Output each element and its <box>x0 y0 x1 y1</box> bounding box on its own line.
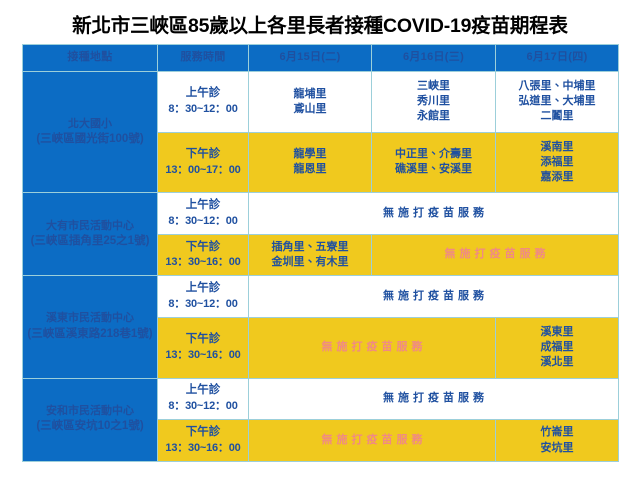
shift-label: 上午診 <box>158 281 248 297</box>
location-address: (三峽區安坑10之1號) <box>23 419 157 435</box>
village-name: 安坑里 <box>496 441 618 456</box>
shift-hours: 13：00~17：00 <box>158 163 248 178</box>
no-service-cell: 無施打疫苗服務 <box>249 420 496 462</box>
shift-hours: 13：30~16：00 <box>158 441 248 456</box>
location-name: 大有市民活動中心 <box>23 219 157 234</box>
table-row: 大有市民活動中心(三峽區插角里25之1號)上午診8：30~12：00無施打疫苗服… <box>23 193 619 235</box>
village-name: 秀川里 <box>372 94 495 109</box>
header-day2: 6月16日(三) <box>372 45 496 72</box>
vaccination-schedule-table: 接種地點 服務時間 6月15日(二) 6月16日(三) 6月17日(四) 北大國… <box>22 44 619 462</box>
village-list: 溪南里添福里嘉添里 <box>496 140 618 186</box>
location-name: 北大國小 <box>23 117 157 132</box>
village-name: 嘉添里 <box>496 170 618 185</box>
shift-time-cell: 上午診8：30~12：00 <box>158 72 249 133</box>
village-list: 龍學里龍恩里 <box>249 147 371 177</box>
village-cell-day1: 龍學里龍恩里 <box>249 132 372 193</box>
village-list: 溪東里成福里溪北里 <box>496 325 618 371</box>
shift-hours: 13：30~16：00 <box>158 255 248 270</box>
no-service-cell: 無施打疫苗服務 <box>249 318 496 379</box>
shift-hours: 8：30~12：00 <box>158 297 248 312</box>
village-name: 竹崙里 <box>496 425 618 440</box>
shift-label: 下午診 <box>158 240 248 256</box>
village-list: 龍埔里鳶山里 <box>249 87 371 117</box>
no-service-cell: 無施打疫苗服務 <box>249 193 619 235</box>
village-name: 溪南里 <box>496 140 618 155</box>
location-cell: 安和市民活動中心(三峽區安坑10之1號) <box>23 378 158 461</box>
schedule-page: 新北市三峽區85歲以上各里長者接種COVID-19疫苗期程表 接種地點 服務時間… <box>0 0 640 480</box>
header-day3: 6月17日(四) <box>496 45 619 72</box>
table-row: 安和市民活動中心(三峽區安坑10之1號)上午診8：30~12：00無施打疫苗服務 <box>23 378 619 420</box>
shift-time-cell: 下午診13：00~17：00 <box>158 132 249 193</box>
location-cell: 溪東市民活動中心(三峽區溪東路218巷1號) <box>23 276 158 378</box>
shift-time-cell: 下午診13：30~16：00 <box>158 420 249 462</box>
village-name: 金圳里、有木里 <box>249 255 371 270</box>
village-cell-day2: 中正里、介壽里礁溪里、安溪里 <box>372 132 496 193</box>
village-name: 永館里 <box>372 109 495 124</box>
no-service-cell: 無施打疫苗服務 <box>249 276 619 318</box>
shift-label: 下午診 <box>158 332 248 348</box>
village-name: 鳶山里 <box>249 102 371 117</box>
village-name: 中正里、介壽里 <box>372 147 495 162</box>
village-name: 添福里 <box>496 155 618 170</box>
table-header: 接種地點 服務時間 6月15日(二) 6月16日(三) 6月17日(四) <box>23 45 619 72</box>
village-name: 龍埔里 <box>249 87 371 102</box>
village-name: 溪北里 <box>496 355 618 370</box>
shift-label: 上午診 <box>158 198 248 214</box>
location-address: (三峽區溪東路218巷1號) <box>23 327 157 343</box>
shift-label: 下午診 <box>158 425 248 441</box>
village-name: 八張里、中埔里 <box>496 79 618 94</box>
shift-label: 上午診 <box>158 383 248 399</box>
village-cell-day1: 插角里、五寮里金圳里、有木里 <box>249 234 372 276</box>
header-row: 接種地點 服務時間 6月15日(二) 6月16日(三) 6月17日(四) <box>23 45 619 72</box>
location-address: (三峽區國光街100號) <box>23 132 157 148</box>
village-list: 八張里、中埔里弘道里、大埔里二鬮里 <box>496 79 618 125</box>
location-cell: 北大國小(三峽區國光街100號) <box>23 72 158 193</box>
village-list: 三峽里秀川里永館里 <box>372 79 495 125</box>
village-cell-day1: 龍埔里鳶山里 <box>249 72 372 133</box>
shift-time-cell: 上午診8：30~12：00 <box>158 193 249 235</box>
header-time: 服務時間 <box>158 45 249 72</box>
page-title: 新北市三峽區85歲以上各里長者接種COVID-19疫苗期程表 <box>0 9 640 38</box>
header-location: 接種地點 <box>23 45 158 72</box>
shift-hours: 8：30~12：00 <box>158 399 248 414</box>
no-service-cell: 無施打疫苗服務 <box>249 378 619 420</box>
location-name: 溪東市民活動中心 <box>23 311 157 326</box>
table-row: 北大國小(三峽區國光街100號)上午診8：30~12：00龍埔里鳶山里三峽里秀川… <box>23 72 619 133</box>
shift-time-cell: 上午診8：30~12：00 <box>158 276 249 318</box>
schedule-table-wrap: 接種地點 服務時間 6月15日(二) 6月16日(三) 6月17日(四) 北大國… <box>22 44 618 462</box>
shift-time-cell: 下午診13：30~16：00 <box>158 318 249 379</box>
table-row: 溪東市民活動中心(三峽區溪東路218巷1號)上午診8：30~12：00無施打疫苗… <box>23 276 619 318</box>
shift-label: 下午診 <box>158 147 248 163</box>
header-day1: 6月15日(二) <box>249 45 372 72</box>
village-name: 插角里、五寮里 <box>249 240 371 255</box>
village-cell-day3: 溪南里添福里嘉添里 <box>496 132 619 193</box>
shift-time-cell: 下午診13：30~16：00 <box>158 234 249 276</box>
shift-label: 上午診 <box>158 86 248 102</box>
village-name: 二鬮里 <box>496 109 618 124</box>
village-name: 成福里 <box>496 340 618 355</box>
village-name: 礁溪里、安溪里 <box>372 162 495 177</box>
location-cell: 大有市民活動中心(三峽區插角里25之1號) <box>23 193 158 276</box>
location-address: (三峽區插角里25之1號) <box>23 234 157 250</box>
village-name: 弘道里、大埔里 <box>496 94 618 109</box>
village-name: 龍恩里 <box>249 162 371 177</box>
no-service-cell: 無施打疫苗服務 <box>372 234 619 276</box>
location-name: 安和市民活動中心 <box>23 404 157 419</box>
village-list: 中正里、介壽里礁溪里、安溪里 <box>372 147 495 177</box>
village-cell-day3: 竹崙里安坑里 <box>496 420 619 462</box>
village-name: 三峽里 <box>372 79 495 94</box>
shift-hours: 8：30~12：00 <box>158 214 248 229</box>
village-name: 龍學里 <box>249 147 371 162</box>
shift-hours: 13：30~16：00 <box>158 348 248 363</box>
village-cell-day2: 三峽里秀川里永館里 <box>372 72 496 133</box>
shift-time-cell: 上午診8：30~12：00 <box>158 378 249 420</box>
village-cell-day3: 溪東里成福里溪北里 <box>496 318 619 379</box>
village-list: 插角里、五寮里金圳里、有木里 <box>249 240 371 270</box>
village-name: 溪東里 <box>496 325 618 340</box>
village-list: 竹崙里安坑里 <box>496 425 618 455</box>
village-cell-day3: 八張里、中埔里弘道里、大埔里二鬮里 <box>496 72 619 133</box>
shift-hours: 8：30~12：00 <box>158 102 248 117</box>
table-body: 北大國小(三峽區國光街100號)上午診8：30~12：00龍埔里鳶山里三峽里秀川… <box>23 72 619 462</box>
